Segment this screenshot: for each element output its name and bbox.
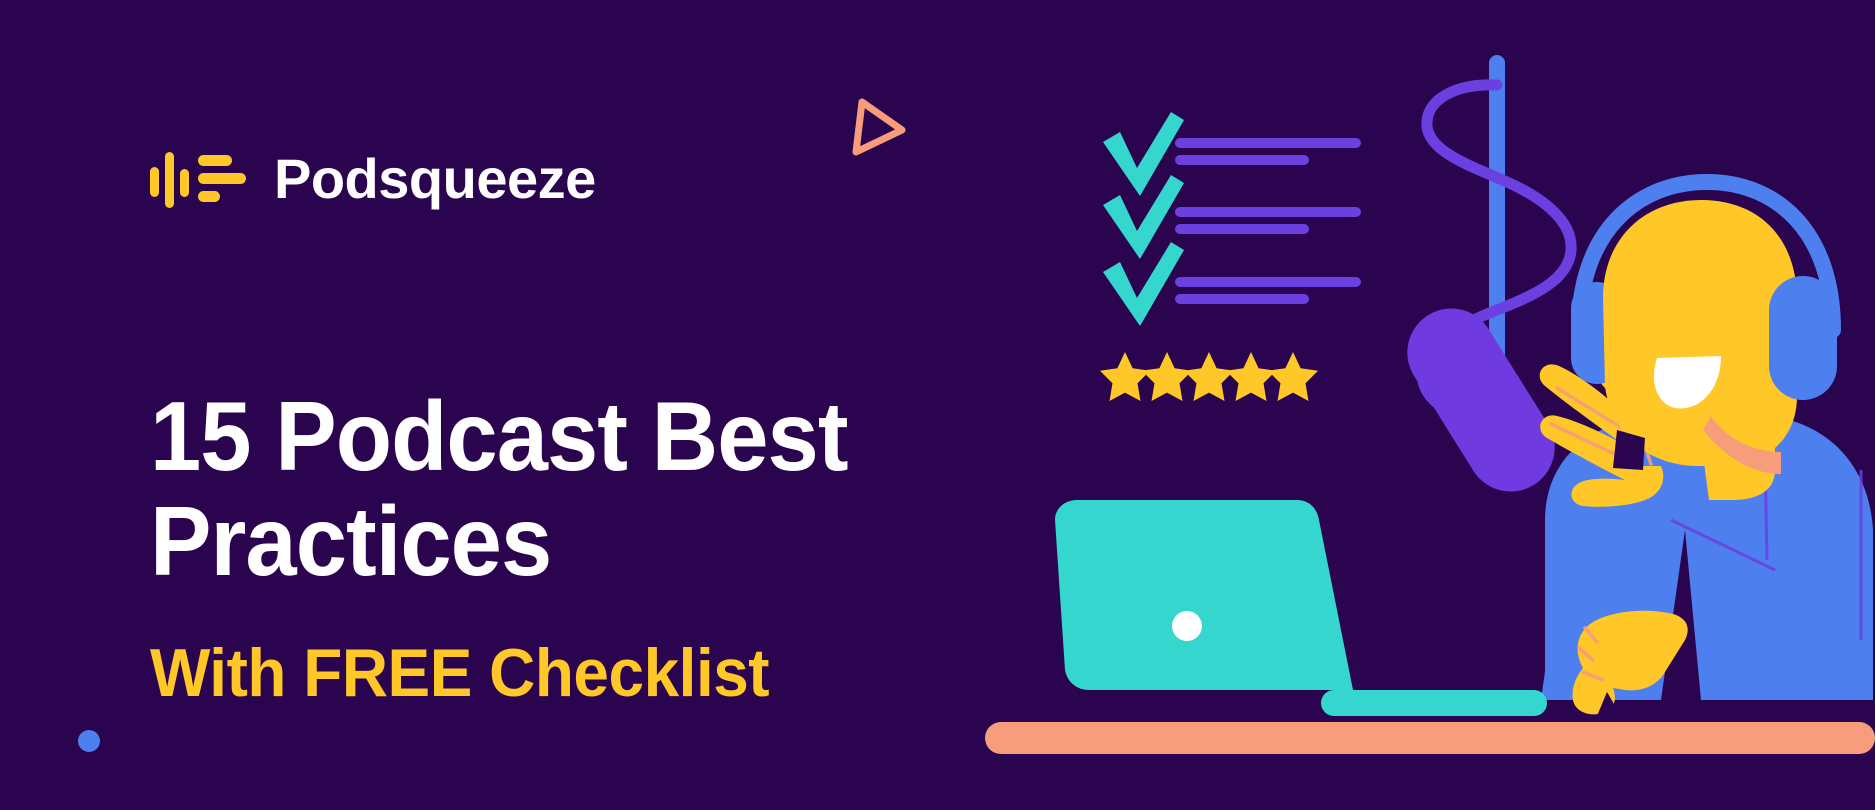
brand-lockup: Podsqueeze [150, 150, 596, 208]
subtitle: With FREE Checklist [150, 636, 930, 711]
desk-surface [985, 722, 1875, 754]
brand-name: Podsqueeze [274, 151, 596, 207]
page-title: 15 Podcast Best Practices [150, 384, 930, 594]
blue-dot-icon [78, 730, 100, 752]
laptop [1055, 500, 1547, 716]
podsqueeze-waveform-icon [150, 150, 246, 208]
podsqueeze-promo-banner: Podsqueeze 15 Podcast Best Practices Wit… [0, 0, 1875, 810]
star-rating-group [1100, 352, 1318, 401]
laptop-logo-dot [1172, 611, 1202, 641]
checklist-group [1103, 112, 1361, 326]
podcaster-at-desk-illustration [985, 0, 1875, 810]
microphone-body [1391, 292, 1577, 508]
play-triangle-outline-icon [848, 96, 910, 158]
